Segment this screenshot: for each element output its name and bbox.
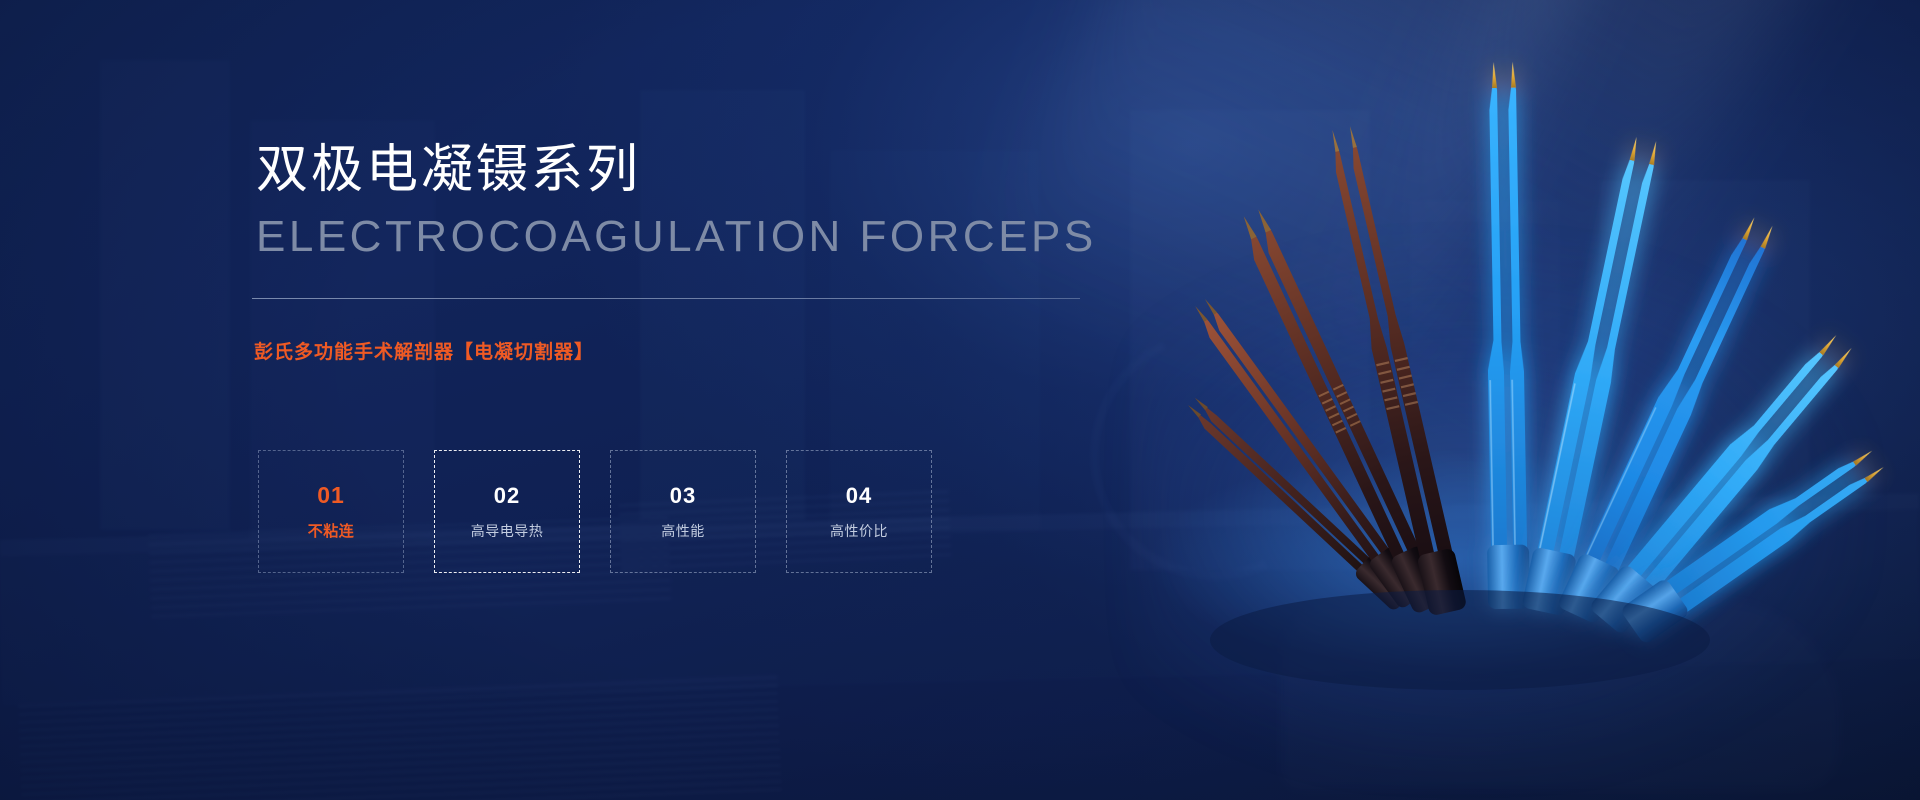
feature-card-04[interactable]: 04 高性价比 — [786, 450, 932, 573]
feature-label: 不粘连 — [308, 524, 355, 539]
product-tagline: 彭氏多功能手术解剖器【电凝切割器】 — [254, 337, 594, 364]
feature-number: 01 — [317, 484, 345, 507]
feature-list: 01 不粘连 02 高导电导热 03 高性能 04 高性价比 — [258, 450, 932, 573]
feature-label: 高性价比 — [830, 524, 888, 538]
feature-number: 03 — [670, 485, 696, 507]
horizontal-divider — [252, 298, 1080, 299]
feature-number: 04 — [846, 485, 872, 507]
feature-label: 高性能 — [661, 524, 705, 538]
banner-text-content: 双极电凝镊系列 ELECTROCOAGULATION FORCEPS 彭氏多功能… — [0, 0, 1100, 800]
feature-card-01[interactable]: 01 不粘连 — [258, 450, 404, 573]
feature-card-03[interactable]: 03 高性能 — [610, 450, 756, 573]
product-banner: 双极电凝镊系列 ELECTROCOAGULATION FORCEPS 彭氏多功能… — [0, 0, 1920, 800]
feature-number: 02 — [494, 485, 520, 507]
page-subtitle-english: ELECTROCOAGULATION FORCEPS — [256, 214, 1097, 260]
feature-label: 高导电导热 — [471, 524, 544, 538]
feature-card-02[interactable]: 02 高导电导热 — [434, 450, 580, 573]
forceps-illustration — [1080, 40, 1780, 660]
page-title: 双极电凝镊系列 — [256, 142, 641, 199]
